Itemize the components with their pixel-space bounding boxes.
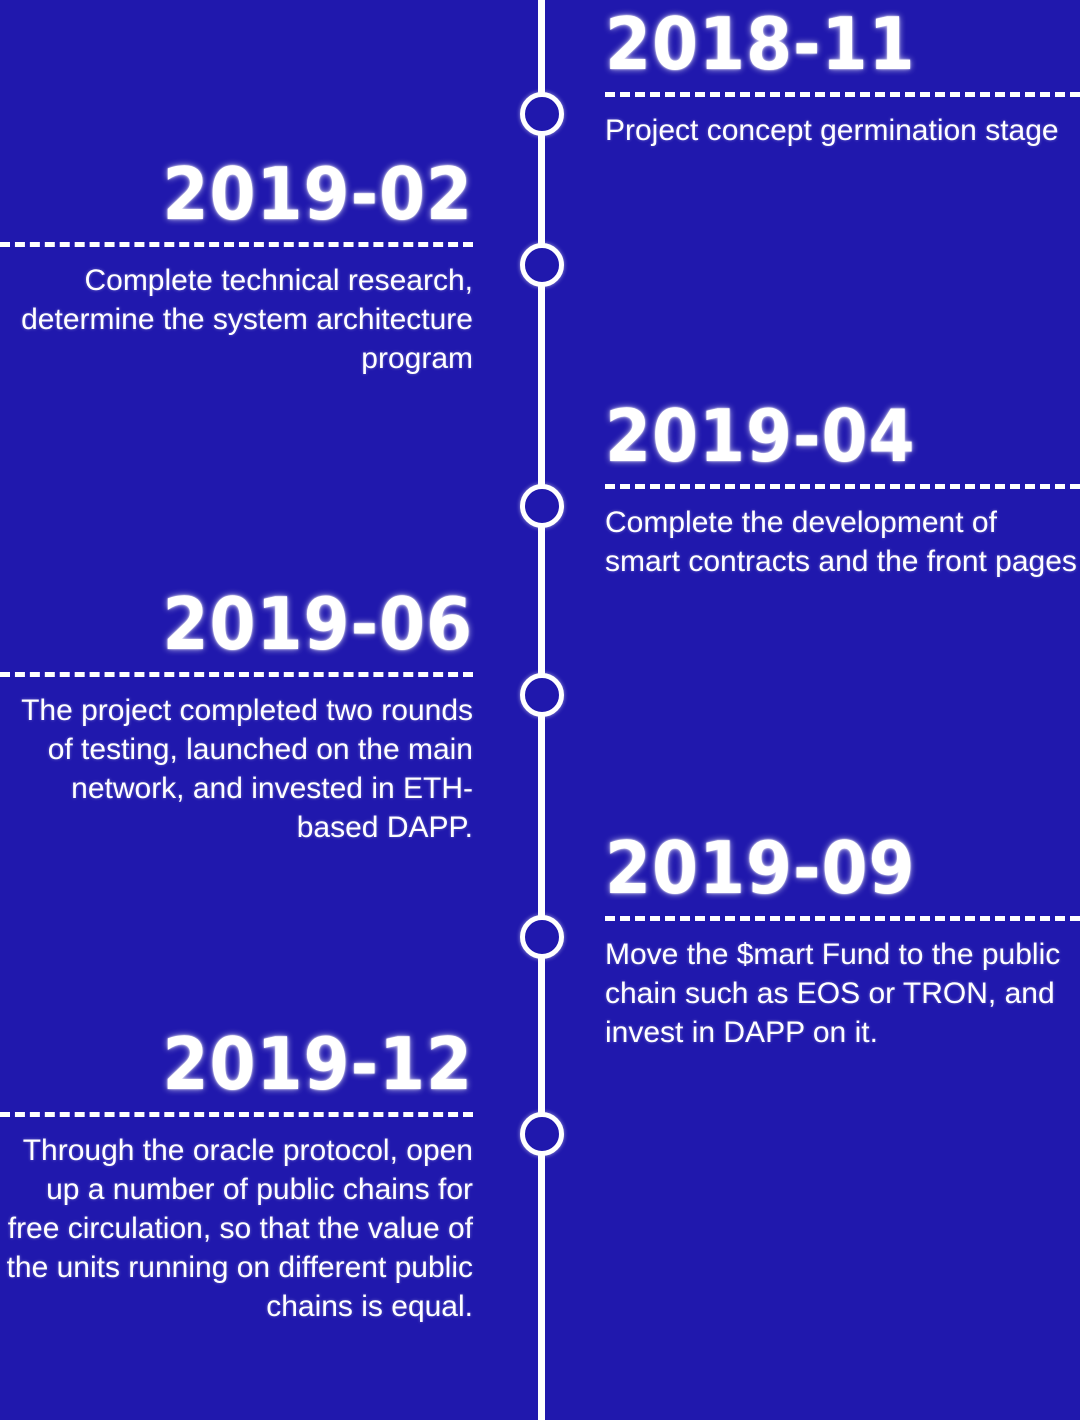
timeline-entry-description: Complete the development of smart contra… — [605, 503, 1080, 581]
timeline-diagram: 2018-11 Project concept germination stag… — [0, 0, 1080, 1420]
timeline-entry-date: 2019-02 — [38, 158, 473, 230]
timeline-entry-2019-02: 2019-02 Complete technical research, det… — [0, 158, 473, 378]
timeline-entry-2019-09: 2019-09 Move the $mart Fund to the publi… — [605, 832, 1080, 1052]
timeline-entry-description: Complete technical research, determine t… — [0, 261, 473, 378]
timeline-node-marker-3[interactable] — [520, 484, 564, 528]
timeline-entry-date: 2019-06 — [38, 588, 473, 660]
timeline-entry-divider — [605, 92, 1080, 97]
timeline-entry-date: 2019-12 — [38, 1028, 473, 1100]
timeline-node-marker-5[interactable] — [520, 915, 564, 959]
timeline-entry-divider — [0, 242, 473, 247]
timeline-entry-description: Project concept germination stage — [605, 111, 1080, 150]
timeline-entry-divider — [0, 1112, 473, 1117]
timeline-entry-2019-06: 2019-06 The project completed two rounds… — [0, 588, 473, 847]
timeline-node-marker-6[interactable] — [520, 1112, 564, 1156]
timeline-entry-divider — [605, 484, 1080, 489]
timeline-entry-description: Move the $mart Fund to the public chain … — [605, 935, 1080, 1052]
timeline-entry-date: 2018-11 — [605, 8, 1042, 80]
timeline-node-marker-2[interactable] — [520, 243, 564, 287]
timeline-entry-description: The project completed two rounds of test… — [0, 691, 473, 847]
timeline-entry-2019-12: 2019-12 Through the oracle protocol, ope… — [0, 1028, 473, 1326]
timeline-entry-2019-04: 2019-04 Complete the development of smar… — [605, 400, 1080, 581]
timeline-entry-divider — [605, 916, 1080, 921]
timeline-node-marker-4[interactable] — [520, 673, 564, 717]
timeline-node-marker-1[interactable] — [520, 92, 564, 136]
timeline-entry-date: 2019-09 — [605, 832, 1042, 904]
timeline-entry-divider — [0, 672, 473, 677]
timeline-entry-description: Through the oracle protocol, open up a n… — [0, 1131, 473, 1326]
timeline-entry-date: 2019-04 — [605, 400, 1042, 472]
timeline-entry-2018-11: 2018-11 Project concept germination stag… — [605, 8, 1080, 150]
